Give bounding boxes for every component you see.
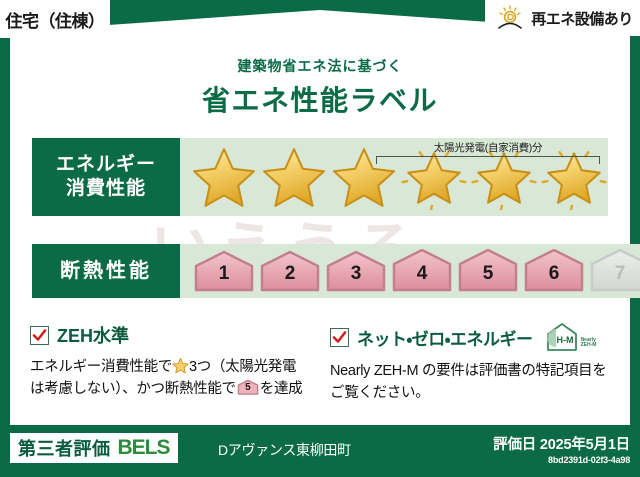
bels-label-en: BELS [118, 436, 170, 460]
insulation-badge: 3 [324, 249, 388, 293]
renewable-label: 再エネ設備あり [531, 8, 633, 29]
insulation-performance-row: 断熱性能 1 2 [32, 244, 608, 298]
star-filled [190, 142, 258, 212]
evaluation-info: 評価日 2025年5月1日 8bd2391d-02f3-4a98 [493, 433, 630, 465]
zeh-standard-section: ZEH水準 エネルギー消費性能で 3つ（太陽光発電 は考慮しない）、かつ断熱性能… [30, 322, 320, 401]
title-main: 省エネ性能ラベル [0, 79, 640, 119]
insulation-badge-value: 2 [285, 263, 296, 285]
insulation-badge-value: 7 [615, 263, 626, 285]
title-subtitle: 建築物省エネ法に基づく [0, 56, 640, 76]
insulation-badge-value: 5 [483, 263, 494, 285]
zeh-m-caption-line2: ZEH-M [581, 342, 597, 348]
zeh-desc-star-count: 3つ（太陽光発電 [189, 359, 296, 375]
renewable-equipment-tab: 再エネ設備あり [485, 0, 640, 36]
insulation-badge-value: 3 [351, 263, 362, 285]
zeh-m-logo: H-M Nearly ZEH-M [545, 322, 597, 352]
insulation-badge: 6 [522, 249, 586, 293]
bels-certification-chip: 第三者評価 BELS [10, 433, 178, 463]
building-type-label: 住宅（住棟） [6, 7, 105, 32]
insulation-badge: 4 [390, 249, 454, 293]
check-mark-icon [32, 328, 47, 343]
zeh-desc-part1: エネルギー消費性能で [30, 359, 172, 375]
insulation-performance-body: 1 2 3 4 5 [180, 244, 640, 298]
evaluation-hash: 8bd2391d-02f3-4a98 [493, 455, 630, 465]
inline-star-icon [172, 357, 189, 374]
zeh-m-caption: Nearly ZEH-M [581, 338, 597, 353]
insulation-badge-inactive: 7 [588, 249, 640, 293]
insulation-badge-value: 4 [417, 263, 428, 285]
net-zero-energy-title: ネット・ゼロ・エネルギー [357, 325, 533, 350]
zeh-standard-description: エネルギー消費性能で 3つ（太陽光発電 は考慮しない）、かつ断熱性能で 5を達成 [30, 356, 320, 401]
insulation-badge-value: 6 [549, 263, 560, 285]
net-zero-energy-section: ネット・ゼロ・エネルギー H-M Nearly ZEH-M Nearly ZEH… [330, 322, 620, 405]
net-zero-energy-heading: ネット・ゼロ・エネルギー H-M Nearly ZEH-M [330, 322, 620, 352]
insulation-label-text: 断熱性能 [60, 259, 152, 284]
evaluation-date: 評価日 2025年5月1日 [493, 433, 630, 454]
checkbox-zeh-standard[interactable] [30, 326, 49, 345]
net-zero-energy-description: Nearly ZEH-M の要件は評価書の特記項目をご覧ください。 [330, 360, 620, 405]
label-footer: 第三者評価 BELS Dアヴァンス東柳田町 評価日 2025年5月1日 8bd2… [0, 425, 640, 477]
zeh-m-house-icon: H-M [545, 322, 579, 352]
energy-performance-label: 住宅（住棟） 再エネ設備あり 建築物省エネ法に基づく 省エネ性能ラベル [0, 0, 640, 477]
star-rating: 太陽光発電(自家消費)分 [180, 138, 608, 216]
zeh-desc-part3: を達成 [260, 381, 303, 397]
inline-insulation-badge: 5 [237, 379, 259, 396]
energy-performance-row: エネルギー 消費性能 [32, 138, 608, 216]
insulation-badge: 2 [258, 249, 322, 293]
check-mark-icon [332, 330, 347, 345]
insulation-badge-value: 1 [219, 263, 230, 285]
energy-label-line2: 消費性能 [66, 177, 146, 201]
zeh-standard-title: ZEH水準 [57, 322, 129, 348]
energy-performance-body: 太陽光発電(自家消費)分 [180, 138, 608, 216]
solar-bracket-line [376, 156, 600, 164]
solar-bracket-label: 太陽光発電(自家消費)分 [376, 140, 600, 155]
energy-label-line1: エネルギー [56, 153, 156, 177]
star-filled [260, 142, 328, 212]
inline-badge-value: 5 [237, 379, 259, 396]
insulation-badge: 1 [192, 249, 256, 293]
bels-label-jp: 第三者評価 [18, 435, 111, 461]
sun-solar-icon [496, 5, 526, 31]
insulation-badge: 5 [456, 249, 520, 293]
solar-generation-bracket: 太陽光発電(自家消費)分 [376, 140, 600, 164]
svg-text:H-M: H-M [556, 335, 573, 345]
zeh-standard-heading: ZEH水準 [30, 322, 320, 348]
checkbox-net-zero-energy[interactable] [330, 328, 349, 347]
zeh-desc-part2: は考慮しない）、かつ断熱性能で [30, 381, 236, 397]
property-name: Dアヴァンス東柳田町 [218, 440, 351, 460]
building-type-tab: 住宅（住棟） [0, 0, 110, 38]
insulation-grade-scale: 1 2 3 4 5 [180, 244, 640, 298]
insulation-performance-label: 断熱性能 [32, 244, 180, 298]
energy-performance-label: エネルギー 消費性能 [32, 138, 180, 216]
page-title: 建築物省エネ法に基づく 省エネ性能ラベル [0, 56, 640, 119]
